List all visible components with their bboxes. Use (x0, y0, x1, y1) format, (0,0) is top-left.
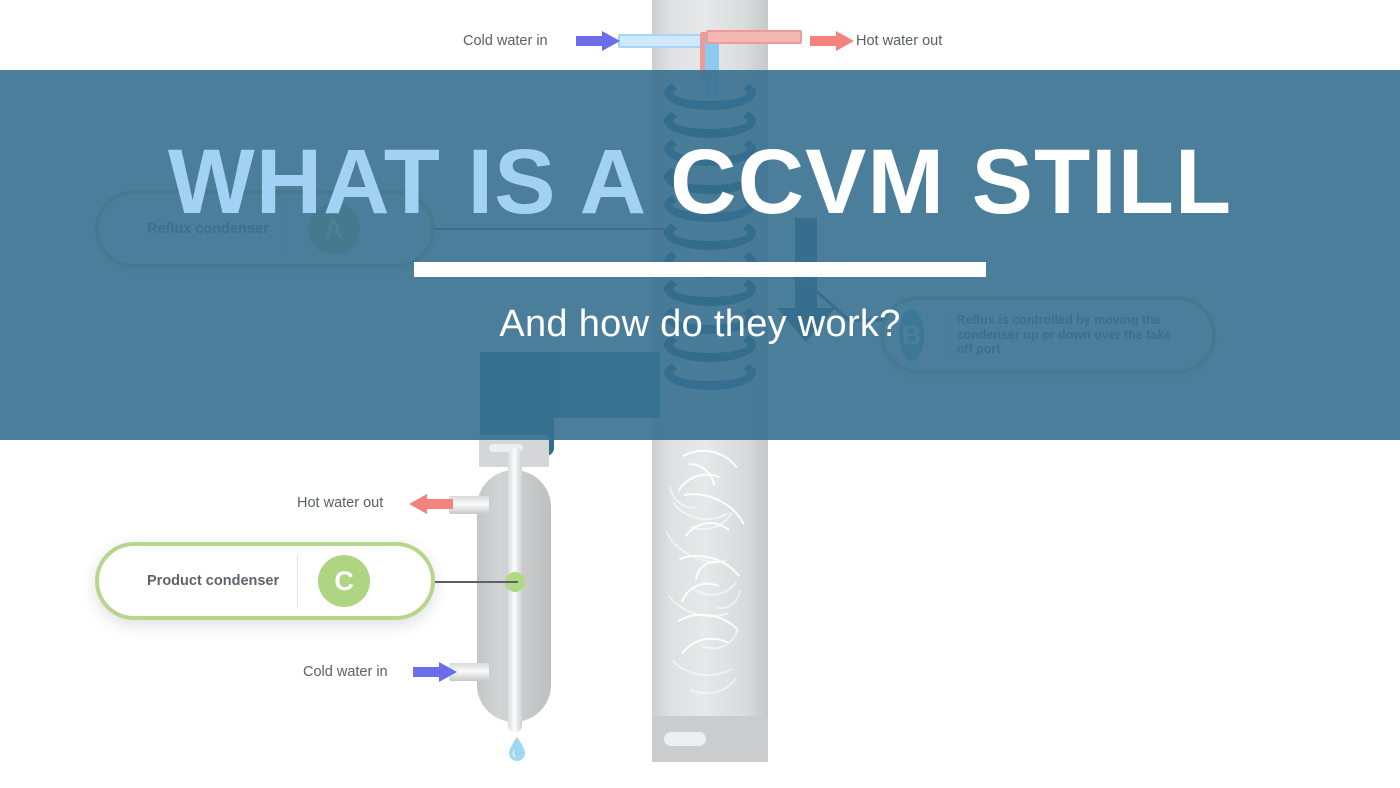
vapor-swirls (652, 440, 768, 762)
cold-arrow-side-icon (413, 662, 457, 682)
hot-arrow-top-icon (810, 31, 854, 51)
callout-c-badge: C (318, 555, 370, 607)
hot-water-outlet-port (449, 496, 489, 514)
title-divider-rule (414, 262, 986, 277)
page-title-part1: WHAT IS A (168, 131, 644, 233)
page-title-part2: CCVM STILL (670, 131, 1232, 233)
page-subtitle: And how do they work? (499, 303, 900, 346)
cold-water-in-top-label: Cold water in (463, 33, 548, 49)
cold-water-in-side-label: Cold water in (303, 664, 388, 680)
cold-arrow-top-icon (576, 31, 620, 51)
callout-c-divider (297, 555, 298, 607)
water-droplet-icon (508, 737, 526, 761)
callout-c-leader-line (430, 581, 518, 583)
hot-arrow-side-icon (409, 494, 453, 514)
hot-water-out-side-label: Hot water out (297, 495, 383, 511)
column-base-highlight (664, 732, 706, 746)
title-block: WHAT IS A CCVM STILL And how do they wor… (0, 70, 1400, 440)
hot-water-outlet-pipe (706, 30, 802, 44)
callout-c-label: Product condenser (99, 573, 297, 589)
callout-product-condenser[interactable]: Product condenser C (95, 542, 435, 620)
hot-water-out-top-label: Hot water out (856, 33, 942, 49)
page-title: WHAT IS A CCVM STILL (168, 136, 1232, 230)
slide-canvas: Cold water in Hot water out (0, 0, 1400, 788)
